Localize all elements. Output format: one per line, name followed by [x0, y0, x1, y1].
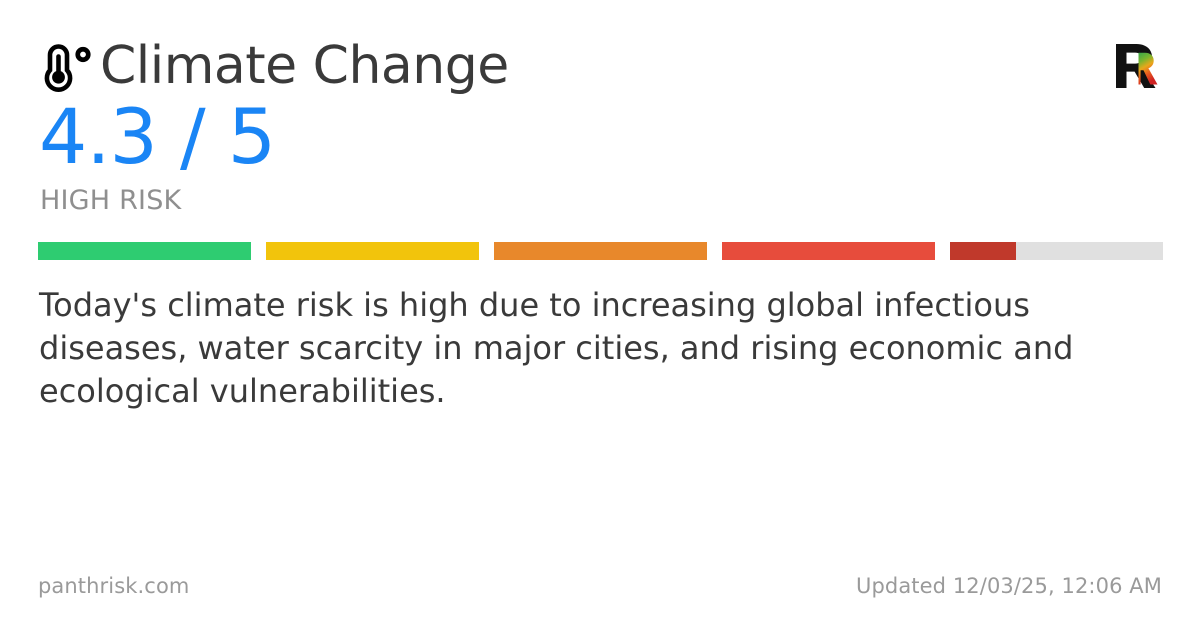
header: Climate Change	[38, 38, 1162, 92]
risk-card: Climate Change 4.3 / 5	[0, 0, 1200, 630]
site-name: panthrisk.com	[38, 574, 189, 598]
risk-score: 4.3 / 5	[39, 98, 1162, 176]
panthrisk-logo-icon	[1110, 40, 1162, 92]
last-updated: Updated 12/03/25, 12:06 AM	[856, 574, 1162, 598]
meter-segment-1	[38, 242, 251, 260]
meter-segment-1-fill	[38, 242, 251, 260]
thermometer-icon	[38, 41, 96, 93]
meter-segment-5	[950, 242, 1163, 260]
risk-level-label: HIGH RISK	[40, 187, 1162, 214]
title-block: Climate Change	[38, 40, 509, 92]
risk-description: Today's climate risk is high due to incr…	[39, 284, 1162, 414]
risk-meter	[38, 242, 1163, 260]
meter-segment-2-fill	[266, 242, 479, 260]
meter-segment-2	[266, 242, 479, 260]
page-title: Climate Change	[100, 40, 509, 92]
meter-segment-3	[494, 242, 707, 260]
meter-segment-4-fill	[722, 242, 935, 260]
meter-segment-4	[722, 242, 935, 260]
footer: panthrisk.com Updated 12/03/25, 12:06 AM	[38, 574, 1162, 598]
meter-segment-5-fill	[950, 242, 1016, 260]
meter-segment-3-fill	[494, 242, 707, 260]
